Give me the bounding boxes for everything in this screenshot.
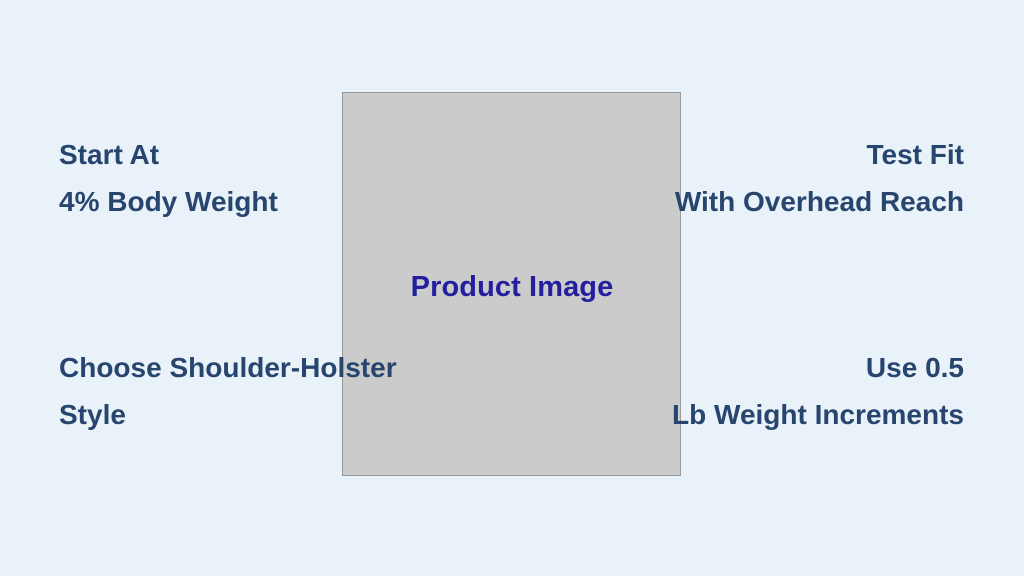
callout-bottom-left-line-2: Style — [59, 391, 397, 438]
callout-top-right: Test Fit With Overhead Reach — [675, 131, 964, 225]
callout-bottom-left-line-1: Choose Shoulder-Holster — [59, 344, 397, 391]
callout-bottom-left: Choose Shoulder-Holster Style — [59, 344, 397, 438]
callout-bottom-right-line-1: Use 0.5 — [672, 344, 964, 391]
callout-top-right-line-2: With Overhead Reach — [675, 178, 964, 225]
callout-bottom-right: Use 0.5 Lb Weight Increments — [672, 344, 964, 438]
callout-top-right-line-1: Test Fit — [675, 131, 964, 178]
callout-top-left-line-1: Start At — [59, 131, 278, 178]
callout-bottom-right-line-2: Lb Weight Increments — [672, 391, 964, 438]
callout-top-left: Start At 4% Body Weight — [59, 131, 278, 225]
slide-canvas: Product Image Start At 4% Body Weight Te… — [0, 0, 1024, 576]
product-image-label: Product Image — [0, 271, 1024, 304]
callout-top-left-line-2: 4% Body Weight — [59, 178, 278, 225]
